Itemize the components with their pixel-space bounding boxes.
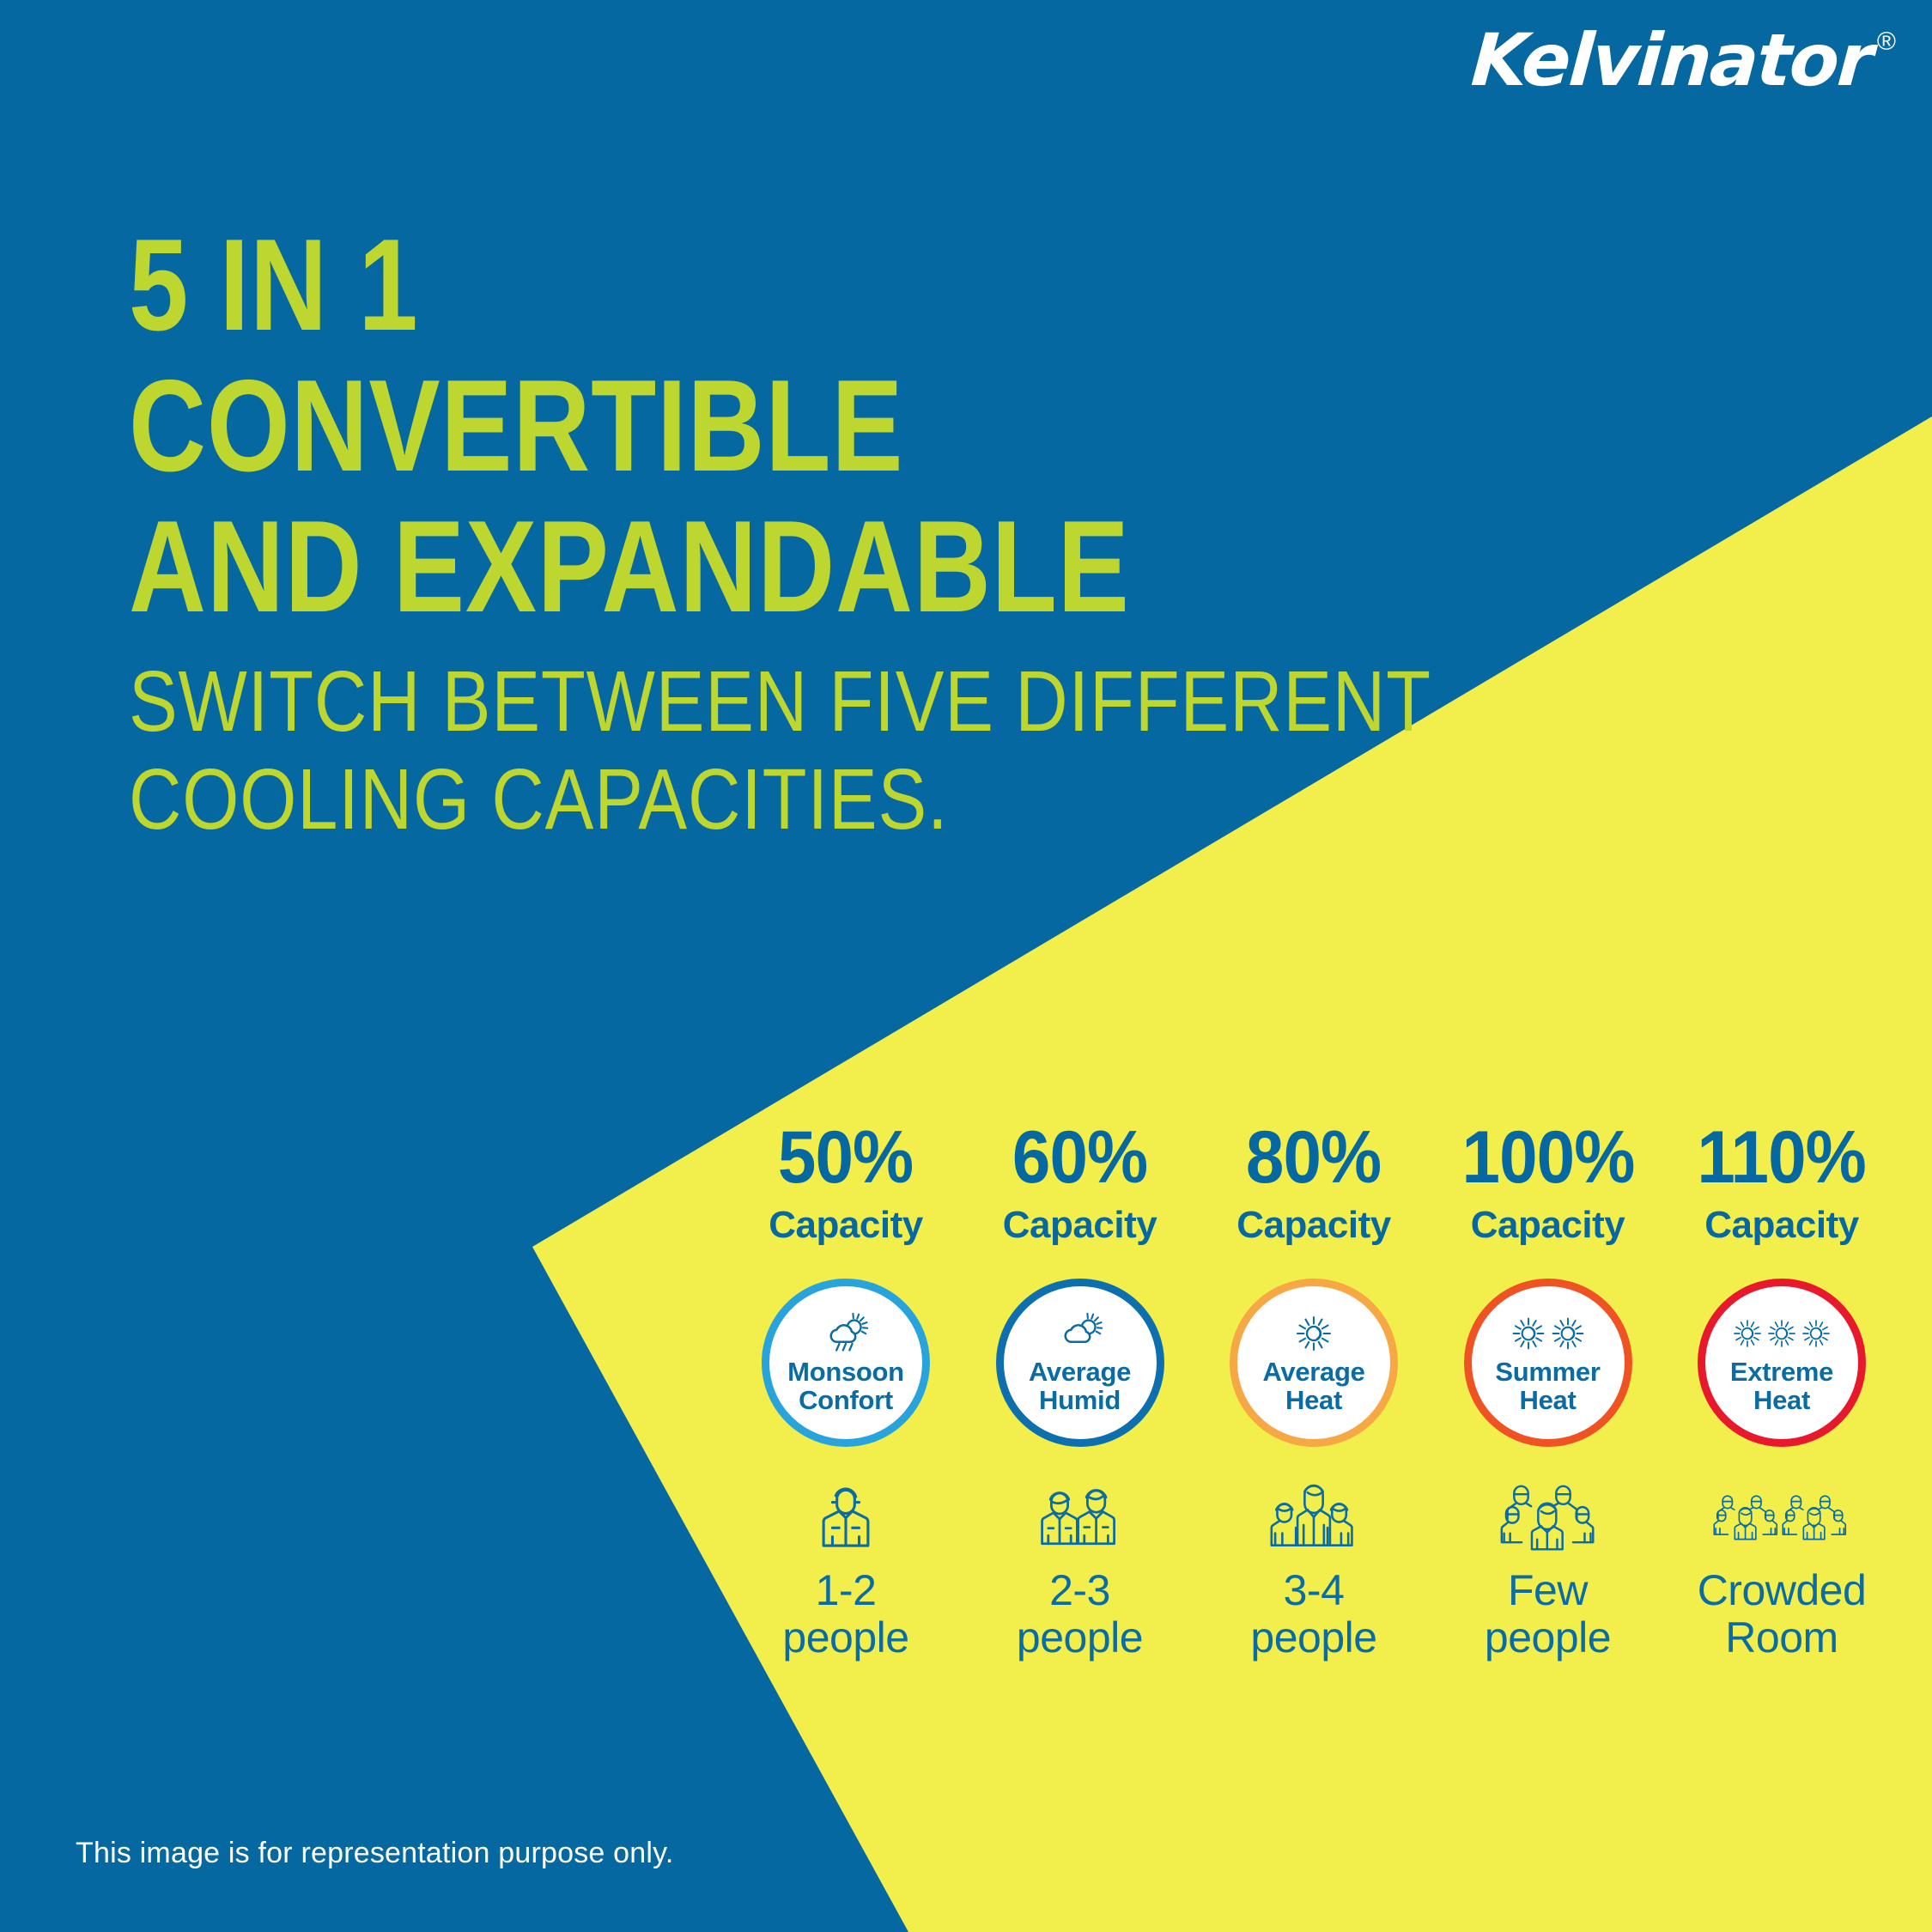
mode-badge[interactable]: AverageHumid [996, 1279, 1164, 1447]
people-count-label: Fewpeople [1485, 1567, 1611, 1662]
subheadline-line-1: SWITCH BETWEEN FIVE DIFFERENT [129, 653, 1224, 750]
mode-badge[interactable]: AverageHeat [1230, 1279, 1398, 1447]
sun-cloud-rain-icon [823, 1310, 868, 1357]
mode-badge-label: AverageHeat [1257, 1358, 1370, 1415]
three-people-icon [1269, 1476, 1358, 1557]
mode-badge[interactable]: SummerHeat [1464, 1279, 1632, 1447]
mode-badge-label-line-2: Heat [1520, 1385, 1577, 1415]
one-person-icon [812, 1476, 879, 1557]
poster-canvas: Kelvinator ® 5 IN 1 CONVERTIBLE AND EXPA… [0, 0, 1932, 1932]
people-count-label: 3-4people [1250, 1567, 1376, 1662]
people-count-line-1: 2-3 [1049, 1566, 1110, 1614]
registered-trademark-icon: ® [1877, 29, 1896, 55]
mode-badge-label-line-2: Heat [1285, 1385, 1342, 1415]
capacity-word-label: Capacity [1704, 1206, 1858, 1244]
subheadline-line-2: COOLING CAPACITIES. [129, 750, 1224, 848]
people-count-line-2: people [782, 1613, 908, 1662]
mode-badge-label-line-1: Summer [1495, 1357, 1600, 1387]
people-count-label: 2-3people [1017, 1567, 1143, 1662]
capacity-percent: 80% [1246, 1121, 1381, 1194]
mode-badge-label: ExtremeHeat [1725, 1358, 1838, 1415]
people-count-line-2: people [1017, 1613, 1143, 1662]
people-count-line-1: 1-2 [816, 1566, 877, 1614]
three-suns-icon [1731, 1310, 1832, 1357]
disclaimer-text: This image is for representation purpose… [76, 1837, 673, 1870]
people-count-line-1: Crowded [1698, 1566, 1867, 1614]
capacity-word-label: Capacity [1003, 1206, 1157, 1244]
subheadline-block: SWITCH BETWEEN FIVE DIFFERENT COOLING CA… [129, 653, 1417, 848]
capacity-mode-column: 80%Capacity AverageHeat 3-4people [1206, 1121, 1421, 1662]
capacity-word-label: Capacity [1236, 1206, 1390, 1244]
headline-line-1: 5 IN 1 [129, 215, 1185, 355]
mode-badge-label: MonsoonConfort [782, 1358, 909, 1415]
capacity-mode-column: 60%Capacity AverageHumid 2-3people [973, 1121, 1188, 1662]
mode-badge-label-line-2: Heat [1753, 1385, 1810, 1415]
people-count-line-2: people [1250, 1613, 1376, 1662]
two-suns-icon [1510, 1310, 1587, 1357]
capacity-mode-column: 110%Capacity ExtremeHeat [1674, 1121, 1889, 1662]
capacity-percent: 110% [1698, 1121, 1866, 1194]
mode-badge-label-line-1: Average [1029, 1357, 1131, 1387]
capacity-percent: 60% [1012, 1121, 1147, 1194]
people-count-line-2: Room [1725, 1613, 1838, 1662]
headline-line-2: CONVERTIBLE [129, 355, 1185, 496]
brand-logo-text: Kelvinator [1469, 24, 1874, 96]
people-count-line-2: people [1485, 1613, 1611, 1662]
capacity-mode-column: 100%Capacity SummerHeat [1441, 1121, 1656, 1662]
mode-badge-label-line-1: Average [1262, 1357, 1364, 1387]
mode-badge-label-line-1: Monsoon [787, 1357, 904, 1387]
brand-logo: Kelvinator ® [1472, 24, 1896, 96]
sun-icon [1293, 1310, 1334, 1357]
capacity-percent: 100% [1461, 1121, 1634, 1194]
mode-badge-label: SummerHeat [1490, 1358, 1605, 1415]
mode-badge-label-line-1: Extreme [1730, 1357, 1833, 1387]
capacity-word-label: Capacity [1471, 1206, 1625, 1244]
people-count-label: 1-2people [782, 1567, 908, 1662]
capacity-mode-column: 50%Capacity MonsoonConfort 1-2people [738, 1121, 953, 1662]
crowd-people-icon [1713, 1476, 1850, 1557]
two-people-icon [1039, 1476, 1121, 1557]
capacity-word-label: Capacity [769, 1206, 922, 1244]
sun-behind-cloud-icon [1058, 1310, 1103, 1357]
capacity-modes-row: 50%Capacity MonsoonConfort 1-2people60%C… [738, 1121, 1889, 1662]
people-count-label: CrowdedRoom [1698, 1567, 1867, 1662]
headline-line-3: AND EXPANDABLE [129, 496, 1185, 637]
capacity-percent: 50% [778, 1121, 913, 1194]
mode-badge-label: AverageHumid [1024, 1358, 1136, 1415]
people-count-line-1: 3-4 [1284, 1566, 1345, 1614]
group-people-icon [1500, 1476, 1596, 1557]
mode-badge-label-line-2: Confort [799, 1385, 893, 1415]
mode-badge[interactable]: ExtremeHeat [1698, 1279, 1866, 1447]
headline-block: 5 IN 1 CONVERTIBLE AND EXPANDABLE [129, 215, 1417, 637]
mode-badge-label-line-2: Humid [1039, 1385, 1121, 1415]
people-count-line-1: Few [1508, 1566, 1588, 1614]
mode-badge[interactable]: MonsoonConfort [762, 1279, 930, 1447]
